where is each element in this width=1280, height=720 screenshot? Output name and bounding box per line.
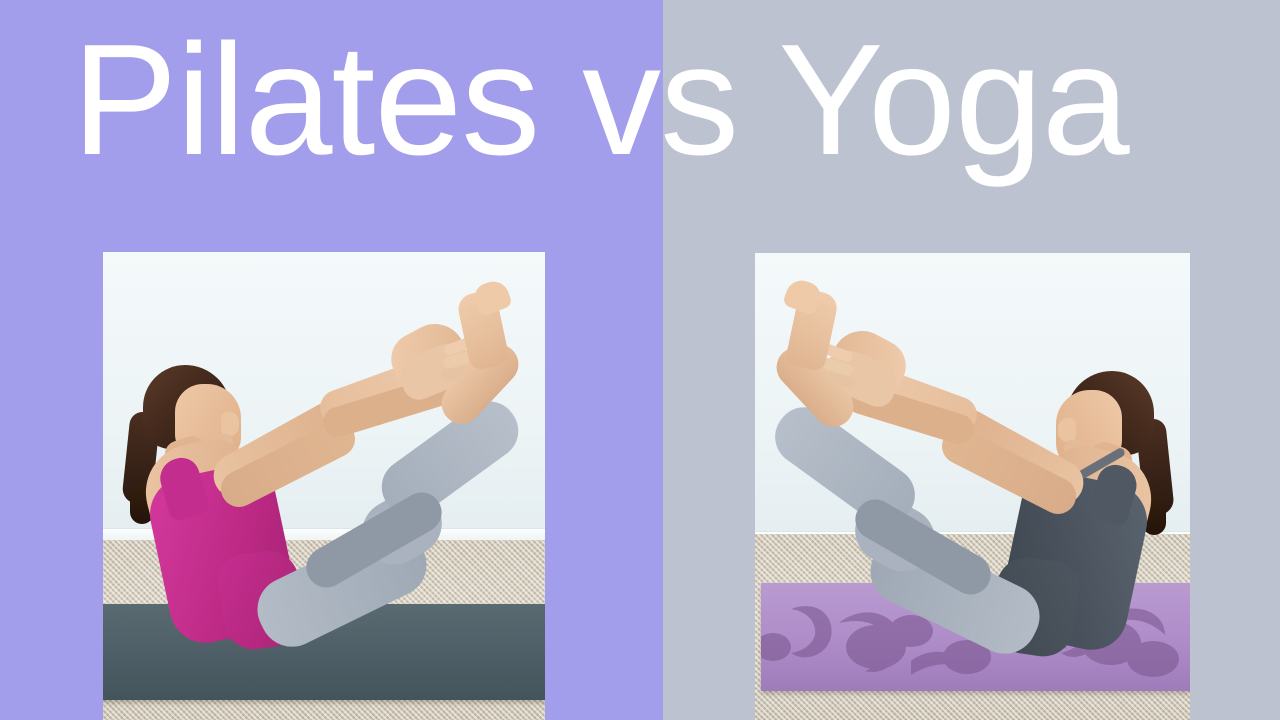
yoga-photo bbox=[755, 253, 1190, 720]
thumbnail-canvas: Pilates vs Yoga bbox=[0, 0, 1280, 720]
pilates-photo bbox=[103, 252, 545, 720]
yoga-subject bbox=[755, 253, 1190, 720]
pilates-subject bbox=[103, 252, 545, 720]
page-title: Pilates vs Yoga bbox=[0, 0, 1280, 200]
